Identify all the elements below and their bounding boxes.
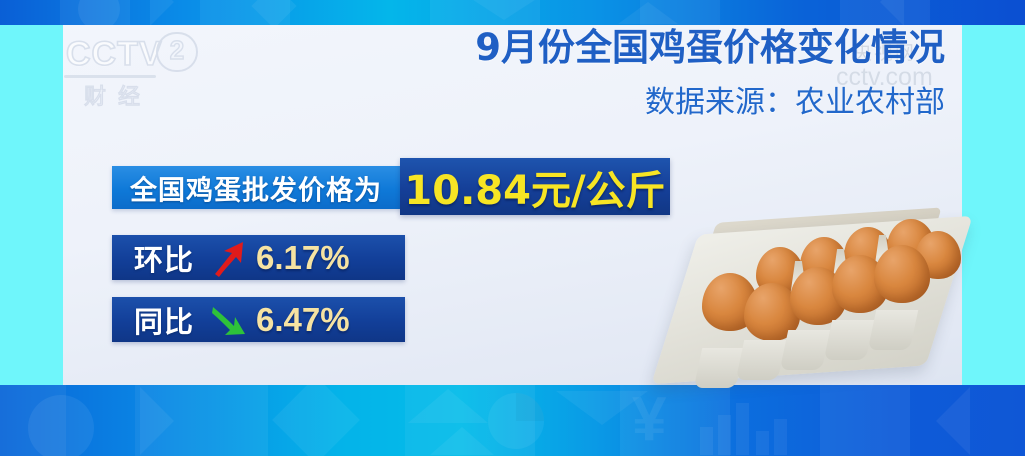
- stat-row-month-on-month: 环比 6.17%: [112, 235, 405, 280]
- circle-ornament-icon: [78, 0, 120, 25]
- stat-row-year-on-year: 同比 6.47%: [112, 297, 405, 342]
- cctv2-logo: CCTV 2 财经: [64, 35, 204, 110]
- egg: [874, 245, 930, 303]
- bar-chart-ornament-icon: [756, 431, 769, 455]
- chevron-right-ornament-icon: [140, 387, 174, 455]
- right-cyan-edge: [962, 25, 1025, 385]
- left-cyan-edge: [0, 25, 63, 385]
- bottom-decorative-strip: ¥: [0, 385, 1025, 456]
- logo-rule: [64, 75, 156, 78]
- bar-chart-ornament-icon: [774, 419, 787, 455]
- title-block: 9月份全国鸡蛋价格变化情况 数据来源：农业农村部: [380, 28, 945, 121]
- carton-cup: [694, 348, 745, 388]
- bar-chart-ornament-icon: [718, 415, 731, 455]
- stat-label: 环比: [134, 237, 194, 279]
- egg-carton-photo: [672, 205, 962, 390]
- circle-ornament-icon: [28, 395, 94, 456]
- bar-chart-ornament-icon: [736, 403, 749, 455]
- arrow-down-green-icon: [208, 299, 250, 341]
- stat-value: 6.17%: [256, 239, 350, 277]
- top-decorative-strip: [0, 0, 1025, 25]
- cctv-logo-word: CCTV: [66, 35, 163, 74]
- chevron-down-ornament-icon: [470, 0, 538, 20]
- stat-value: 6.47%: [256, 301, 350, 339]
- chevron-left-ornament-icon: [880, 0, 904, 25]
- stat-label: 同比: [134, 299, 194, 341]
- triangle-up-ornament-icon: [408, 389, 488, 423]
- price-value: 10.84元/公斤: [400, 158, 670, 216]
- broadcast-graphic: ¥ CCTV 2 财经 央视网 cctv.com 9月份全国鸡蛋价格变化情况 数…: [0, 0, 1025, 456]
- data-source-label: 数据来源：农业农村部: [380, 77, 945, 121]
- chevron-left-ornament-icon: [936, 387, 970, 455]
- price-value-panel: 10.84元/公斤: [400, 158, 670, 215]
- yen-symbol-ornament-icon: ¥: [632, 389, 666, 451]
- pie-chart-ornament-icon: [488, 393, 544, 449]
- triangle-up-ornament-icon: [618, 2, 678, 24]
- triangle-up-ornament-icon: [430, 427, 494, 455]
- channel-number-badge: 2: [156, 32, 198, 72]
- channel-name-cn: 财经: [84, 79, 152, 111]
- bar-chart-ornament-icon: [700, 427, 713, 455]
- arrow-up-red-icon: [208, 237, 250, 279]
- diamond-ornament-icon: [272, 385, 360, 456]
- channel-number-text: 2: [158, 35, 196, 66]
- page-title: 9月份全国鸡蛋价格变化情况: [380, 28, 945, 69]
- price-label-bar: 全国鸡蛋批发价格为: [112, 166, 402, 209]
- price-label: 全国鸡蛋批发价格为: [130, 168, 382, 207]
- chevron-right-ornament-icon: [150, 0, 174, 25]
